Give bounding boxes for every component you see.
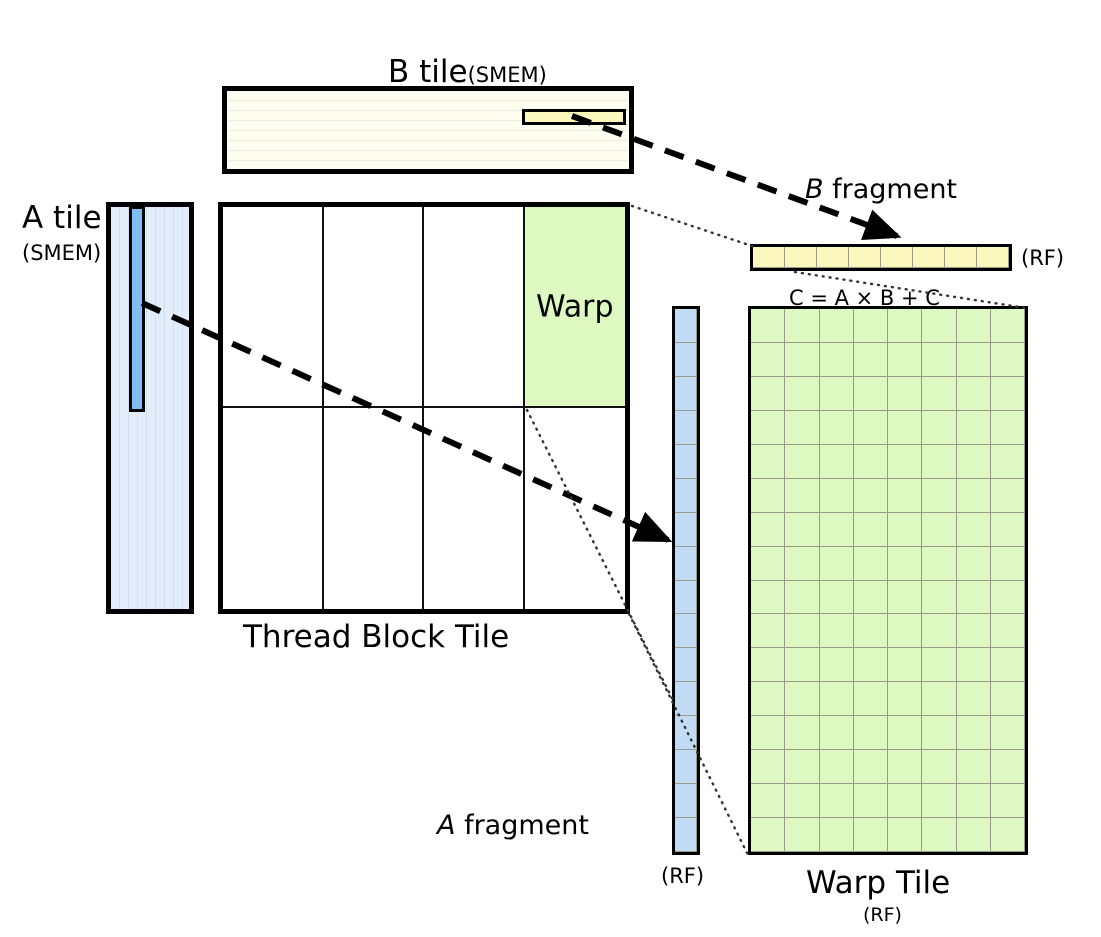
warp-tile-cell <box>854 818 888 852</box>
warp-tile-cell <box>922 581 956 615</box>
warp-tile-cell <box>957 343 991 377</box>
a-fragment-cell <box>675 682 697 716</box>
thread-block-grid: Warp <box>223 207 625 609</box>
warp-tile-cell <box>888 547 922 581</box>
warp-tile-cell <box>820 784 854 818</box>
warp-tile-cell <box>957 581 991 615</box>
warp-tile-cell <box>991 513 1025 547</box>
warp-tile-cell <box>854 513 888 547</box>
warp-tile-cell <box>854 750 888 784</box>
a-fragment-cell <box>675 411 697 445</box>
warp-tile-cell <box>888 818 922 852</box>
b-fragment-cell <box>849 247 881 268</box>
warp-tile-cell <box>957 648 991 682</box>
b-fragment-cell <box>945 247 977 268</box>
warp-tile-cell <box>854 648 888 682</box>
a-fragment-cell <box>675 581 697 615</box>
warp-tile-cell <box>854 309 888 343</box>
b-fragment-cell <box>817 247 849 268</box>
warp-tile-cell <box>751 682 785 716</box>
warp-tile-cell <box>991 547 1025 581</box>
b-tile-title-mem: (SMEM) <box>468 63 547 87</box>
warp-tile-cell <box>922 479 956 513</box>
a-fragment-cells <box>675 309 697 852</box>
warp-tile-cell <box>957 513 991 547</box>
warp-tile-cell <box>820 716 854 750</box>
warp-cell-label: Warp <box>525 289 626 324</box>
warp-tile-cell <box>957 411 991 445</box>
warp-tile-cell <box>888 648 922 682</box>
diagram-canvas: B tile(SMEM) A tile (SMEM) Warp Thread B… <box>0 0 1101 937</box>
warp-tile-cell <box>888 682 922 716</box>
warp-tile-cell <box>922 716 956 750</box>
warp-tile-cell <box>888 445 922 479</box>
warp-tile-cells <box>751 309 1025 852</box>
warp-tile-cell <box>922 682 956 716</box>
warp-tile-cell <box>785 818 819 852</box>
b-fragment-cells <box>753 247 1009 268</box>
warp-tile-box[interactable] <box>748 306 1028 855</box>
warp-tile-cell <box>820 309 854 343</box>
b-fragment-label-rest: fragment <box>824 174 957 205</box>
warp-tile-cell <box>991 818 1025 852</box>
b-fragment-cell <box>977 247 1009 268</box>
warp-tile-cell <box>991 750 1025 784</box>
warp-tile-cell <box>820 818 854 852</box>
warp-tile-cell <box>991 648 1025 682</box>
warp-tile-cell <box>820 343 854 377</box>
leader-warp-to-b-fragment <box>632 206 752 246</box>
warp-tile-mem: (RF) <box>863 906 902 925</box>
warp-tile-cell <box>785 547 819 581</box>
warp-tile-cell <box>785 445 819 479</box>
warp-tile-cell <box>785 581 819 615</box>
tb-cell-r0c1[interactable] <box>324 207 425 408</box>
b-tile-slice[interactable] <box>522 109 626 125</box>
warp-tile-cell <box>888 309 922 343</box>
warp-tile-cell <box>854 377 888 411</box>
warp-tile-cell <box>991 479 1025 513</box>
tb-cell-r1c3[interactable] <box>525 408 626 609</box>
b-tile-stripes <box>227 91 629 169</box>
warp-tile-cell <box>751 818 785 852</box>
warp-tile-cell <box>820 750 854 784</box>
warp-tile-cell <box>957 682 991 716</box>
a-fragment-box[interactable] <box>672 306 700 855</box>
warp-tile-cell <box>751 479 785 513</box>
warp-tile-cell <box>785 682 819 716</box>
warp-tile-cell <box>820 479 854 513</box>
a-fragment-cell <box>675 784 697 818</box>
warp-tile-cell <box>922 750 956 784</box>
warp-tile-cell <box>957 818 991 852</box>
a-tile-title-main: A tile <box>22 203 102 234</box>
b-fragment-label-italic: B <box>805 174 824 205</box>
warp-tile-cell <box>820 682 854 716</box>
warp-tile-cell <box>785 411 819 445</box>
warp-tile-cell <box>922 614 956 648</box>
warp-tile-cell <box>785 377 819 411</box>
warp-tile-cell <box>751 547 785 581</box>
tb-cell-r0c2[interactable] <box>424 207 525 408</box>
warp-tile-cell <box>991 309 1025 343</box>
warp-tile-cell <box>820 513 854 547</box>
warp-tile-cell <box>751 784 785 818</box>
a-fragment-label-rest: fragment <box>455 810 588 841</box>
warp-tile-cell <box>751 445 785 479</box>
warp-tile-label: Warp Tile <box>806 868 950 899</box>
a-fragment-label-italic: A <box>437 810 455 841</box>
warp-tile-cell <box>991 377 1025 411</box>
warp-tile-cell <box>957 445 991 479</box>
warp-tile-cell <box>751 411 785 445</box>
thread-block-tile-box[interactable]: Warp <box>218 202 630 614</box>
warp-tile-cell <box>785 750 819 784</box>
warp-tile-cell <box>957 750 991 784</box>
a-fragment-cell <box>675 648 697 682</box>
b-fragment-cell <box>753 247 785 268</box>
warp-tile-cell <box>957 614 991 648</box>
warp-tile-cell <box>785 784 819 818</box>
a-fragment-cell <box>675 513 697 547</box>
warp-tile-cell <box>751 716 785 750</box>
warp-tile-cell <box>854 479 888 513</box>
warp-tile-cell <box>922 818 956 852</box>
warp-tile-cell <box>991 682 1025 716</box>
a-tile-box[interactable] <box>106 202 194 614</box>
tb-cell-warp[interactable]: Warp <box>525 207 626 408</box>
warp-tile-cell <box>991 411 1025 445</box>
warp-tile-cell <box>751 377 785 411</box>
warp-tile-cell <box>991 784 1025 818</box>
warp-tile-cell <box>957 377 991 411</box>
warp-tile-cell <box>888 411 922 445</box>
warp-tile-cell <box>751 614 785 648</box>
thread-block-tile-label: Thread Block Tile <box>243 622 509 653</box>
warp-tile-cell <box>922 445 956 479</box>
a-fragment-mem: (RF) <box>661 866 704 887</box>
warp-tile-cell <box>854 716 888 750</box>
warp-tile-cell <box>751 581 785 615</box>
tb-cell-r1c1[interactable] <box>324 408 425 609</box>
a-fragment-cell <box>675 445 697 479</box>
a-fragment-label: A fragment <box>437 812 589 839</box>
a-fragment-cell <box>675 716 697 750</box>
warp-tile-cell <box>922 377 956 411</box>
b-tile-box[interactable] <box>222 86 634 174</box>
warp-tile-cell <box>957 479 991 513</box>
tb-cell-r0c0[interactable] <box>223 207 324 408</box>
b-fragment-cell <box>913 247 945 268</box>
warp-tile-cell <box>991 716 1025 750</box>
a-fragment-cell <box>675 547 697 581</box>
warp-tile-cell <box>854 343 888 377</box>
warp-tile-cell <box>888 614 922 648</box>
b-tile-title: B tile(SMEM) <box>388 57 547 88</box>
b-fragment-cell <box>785 247 817 268</box>
warp-tile-cell <box>922 309 956 343</box>
warp-tile-cell <box>991 445 1025 479</box>
warp-tile-cell <box>888 513 922 547</box>
warp-tile-cell <box>888 750 922 784</box>
tb-cell-r1c2[interactable] <box>424 408 525 609</box>
warp-tile-cell <box>854 581 888 615</box>
warp-tile-cell <box>820 581 854 615</box>
a-fragment-cell <box>675 818 697 852</box>
warp-tile-cell <box>751 309 785 343</box>
warp-tile-cell <box>785 648 819 682</box>
warp-tile-cell <box>820 445 854 479</box>
warp-tile-cell <box>785 309 819 343</box>
a-fragment-cell <box>675 479 697 513</box>
tb-cell-r1c0[interactable] <box>223 408 324 609</box>
warp-tile-cell <box>751 343 785 377</box>
warp-tile-cell <box>957 547 991 581</box>
warp-tile-cell <box>820 648 854 682</box>
warp-tile-cell <box>751 750 785 784</box>
warp-tile-cell <box>820 411 854 445</box>
warp-tile-cell <box>785 716 819 750</box>
a-tile-slice[interactable] <box>129 206 145 412</box>
warp-tile-cell <box>888 716 922 750</box>
b-tile-title-main: B tile <box>388 54 468 90</box>
warp-tile-cell <box>854 411 888 445</box>
a-fragment-cell <box>675 750 697 784</box>
warp-tile-cell <box>922 411 956 445</box>
a-fragment-cell <box>675 377 697 411</box>
warp-tile-cell <box>922 343 956 377</box>
warp-tile-cell <box>957 309 991 343</box>
a-fragment-cell <box>675 309 697 343</box>
warp-tile-cell <box>991 614 1025 648</box>
a-tile-title-mem: (SMEM) <box>22 243 101 264</box>
warp-tile-cell <box>888 581 922 615</box>
b-fragment-label: B fragment <box>805 176 957 203</box>
warp-tile-cell <box>785 343 819 377</box>
warp-tile-cell <box>820 377 854 411</box>
warp-tile-cell <box>785 614 819 648</box>
warp-tile-cell <box>785 479 819 513</box>
warp-tile-cell <box>854 547 888 581</box>
b-fragment-box[interactable] <box>750 244 1012 271</box>
warp-tile-cell <box>888 479 922 513</box>
b-fragment-mem: (RF) <box>1021 248 1064 269</box>
warp-tile-cell <box>820 547 854 581</box>
warp-tile-cell <box>785 513 819 547</box>
warp-tile-cell <box>854 445 888 479</box>
a-tile-stripes <box>111 207 189 609</box>
warp-tile-cell <box>888 377 922 411</box>
warp-tile-cell <box>888 343 922 377</box>
warp-tile-cell <box>888 784 922 818</box>
b-fragment-cell <box>881 247 913 268</box>
warp-tile-cell <box>751 513 785 547</box>
warp-tile-cell <box>922 513 956 547</box>
warp-tile-cell <box>854 682 888 716</box>
warp-tile-cell <box>991 581 1025 615</box>
warp-tile-cell <box>957 716 991 750</box>
warp-tile-cell <box>751 648 785 682</box>
warp-tile-cell <box>854 614 888 648</box>
a-fragment-cell <box>675 343 697 377</box>
warp-tile-cell <box>820 614 854 648</box>
warp-tile-cell <box>957 784 991 818</box>
warp-tile-cell <box>854 784 888 818</box>
warp-tile-cell <box>922 648 956 682</box>
warp-tile-cell <box>922 547 956 581</box>
warp-tile-cell <box>991 343 1025 377</box>
a-fragment-cell <box>675 614 697 648</box>
warp-tile-cell <box>922 784 956 818</box>
